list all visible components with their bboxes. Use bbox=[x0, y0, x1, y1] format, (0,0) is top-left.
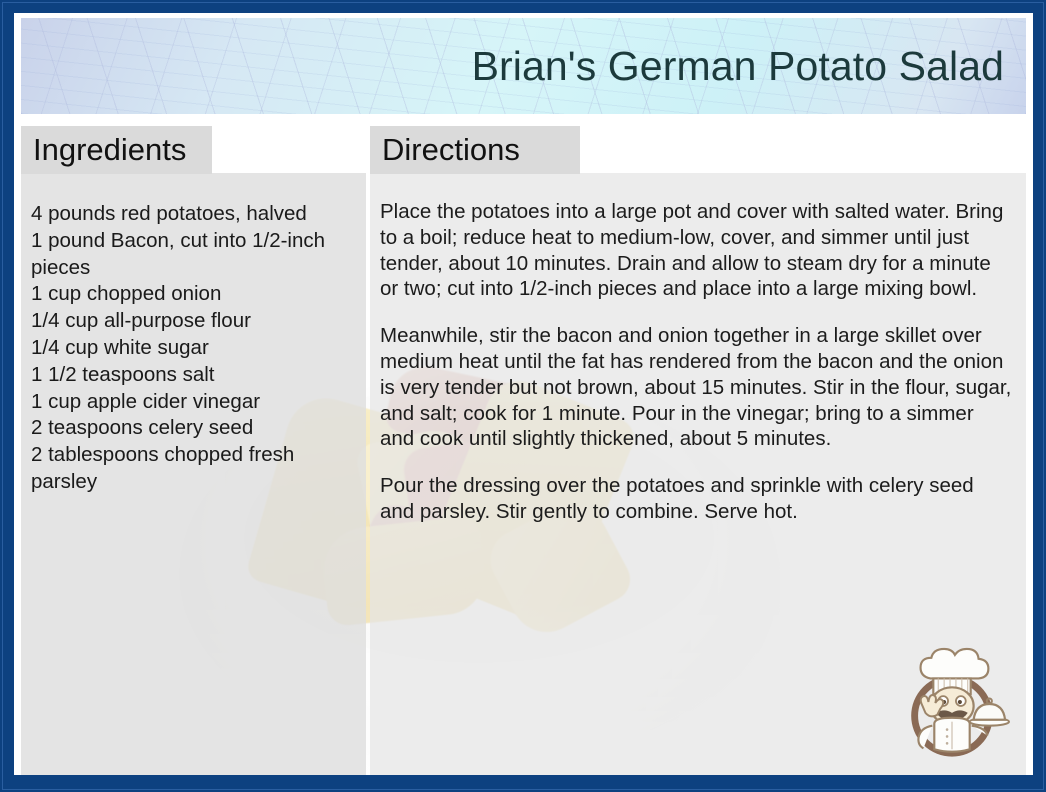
list-item: 1/4 cup all-purpose flour bbox=[31, 308, 354, 335]
page-title: Brian's German Potato Salad bbox=[472, 43, 1026, 90]
directions-heading: Directions bbox=[370, 126, 580, 174]
title-banner: Brian's German Potato Salad bbox=[21, 18, 1026, 114]
recipe-slide: Brian's German Potato Salad Ingredients … bbox=[0, 0, 1046, 792]
chef-logo-icon bbox=[893, 645, 1011, 763]
list-item: 1 pound Bacon, cut into 1/2-inch pieces bbox=[31, 228, 354, 282]
list-item: 1 cup apple cider vinegar bbox=[31, 389, 354, 416]
list-item: 1 1/2 teaspoons salt bbox=[31, 362, 354, 389]
list-item: 1 cup chopped onion bbox=[31, 281, 354, 308]
list-item: 4 pounds red potatoes, halved bbox=[31, 201, 354, 228]
direction-paragraph: Place the potatoes into a large pot and … bbox=[380, 199, 1012, 302]
ingredients-heading: Ingredients bbox=[21, 126, 212, 174]
direction-paragraph: Meanwhile, stir the bacon and onion toge… bbox=[380, 323, 1012, 452]
direction-paragraph: Pour the dressing over the potatoes and … bbox=[380, 473, 1012, 525]
slide-canvas: Brian's German Potato Salad Ingredients … bbox=[14, 13, 1033, 775]
list-item: 1/4 cup white sugar bbox=[31, 335, 354, 362]
chef-logo bbox=[893, 645, 1011, 763]
ingredients-body: 4 pounds red potatoes, halved 1 pound Ba… bbox=[21, 173, 366, 775]
list-item: 2 teaspoons celery seed bbox=[31, 415, 354, 442]
list-item: 2 tablespoons chopped fresh parsley bbox=[31, 442, 354, 496]
right-gutter bbox=[1026, 126, 1033, 775]
ingredients-panel: Ingredients 4 pounds red potatoes, halve… bbox=[21, 126, 366, 775]
ingredients-list: 4 pounds red potatoes, halved 1 pound Ba… bbox=[31, 201, 354, 496]
